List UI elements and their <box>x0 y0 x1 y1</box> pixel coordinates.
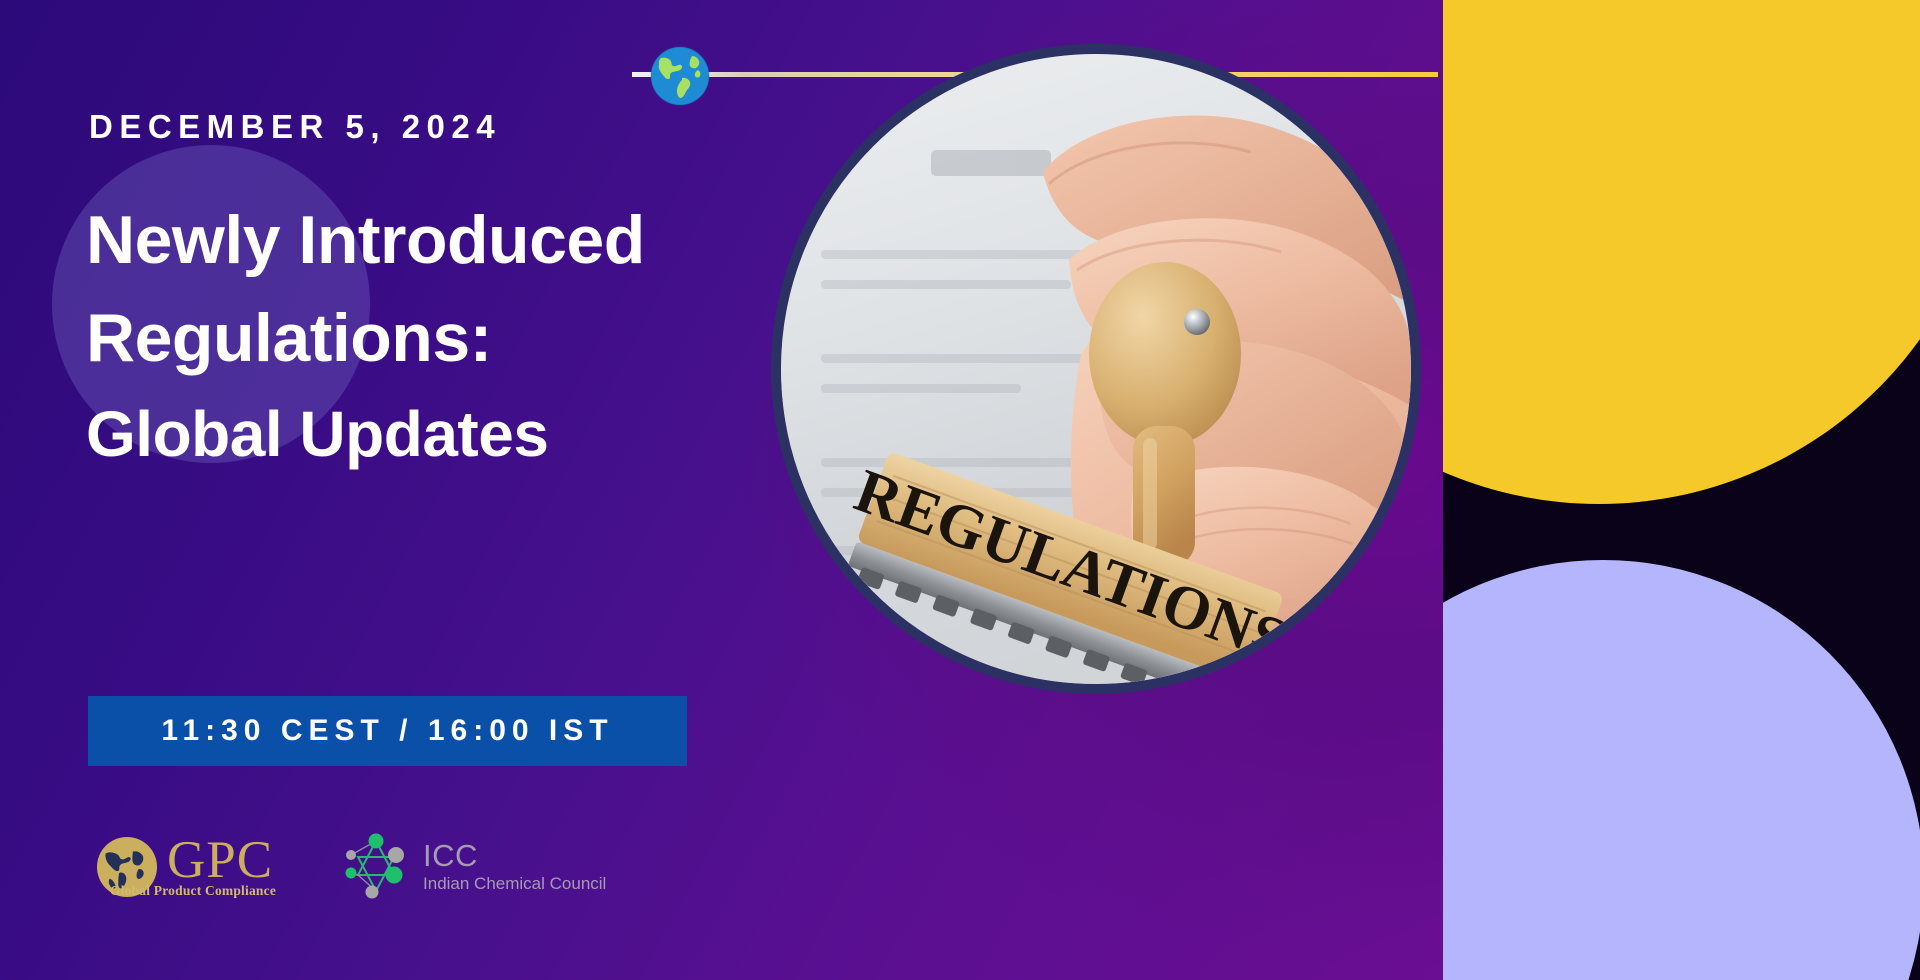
globe-emoji-icon <box>648 44 712 108</box>
webinar-promo-banner: REGULATIONS DECEMBER <box>0 0 1920 980</box>
icc-wordmark: ICC <box>423 840 606 873</box>
gpc-logo: GPC Global Product Compliance <box>96 835 276 900</box>
photo-inner: REGULATIONS <box>781 54 1411 684</box>
headline-line-3: Global Updates <box>86 388 846 480</box>
gpc-wordmark-block: GPC Global Product Compliance <box>164 835 276 900</box>
regulations-stamp-photo: REGULATIONS <box>771 44 1421 694</box>
logo-row: GPC Global Product Compliance <box>96 833 606 901</box>
event-time-badge: 11:30 CEST / 16:00 IST <box>88 696 687 766</box>
icc-logo: ICC Indian Chemical Council <box>342 833 606 901</box>
headline-line-2: Regulations: <box>86 290 846 388</box>
icc-wordmark-block: ICC Indian Chemical Council <box>423 840 606 894</box>
icc-molecule-icon <box>342 833 410 901</box>
photo-illustration: REGULATIONS <box>781 54 1411 684</box>
event-date: DECEMBER 5, 2024 <box>89 108 501 146</box>
icc-tagline: Indian Chemical Council <box>423 873 606 894</box>
event-time-label: 11:30 CEST / 16:00 IST <box>161 714 613 748</box>
gpc-wordmark: GPC <box>167 835 273 886</box>
gpc-tagline: Global Product Compliance <box>110 883 276 899</box>
page-title: Newly Introduced Regulations: Global Upd… <box>86 192 846 480</box>
headline-line-1: Newly Introduced <box>86 192 846 290</box>
